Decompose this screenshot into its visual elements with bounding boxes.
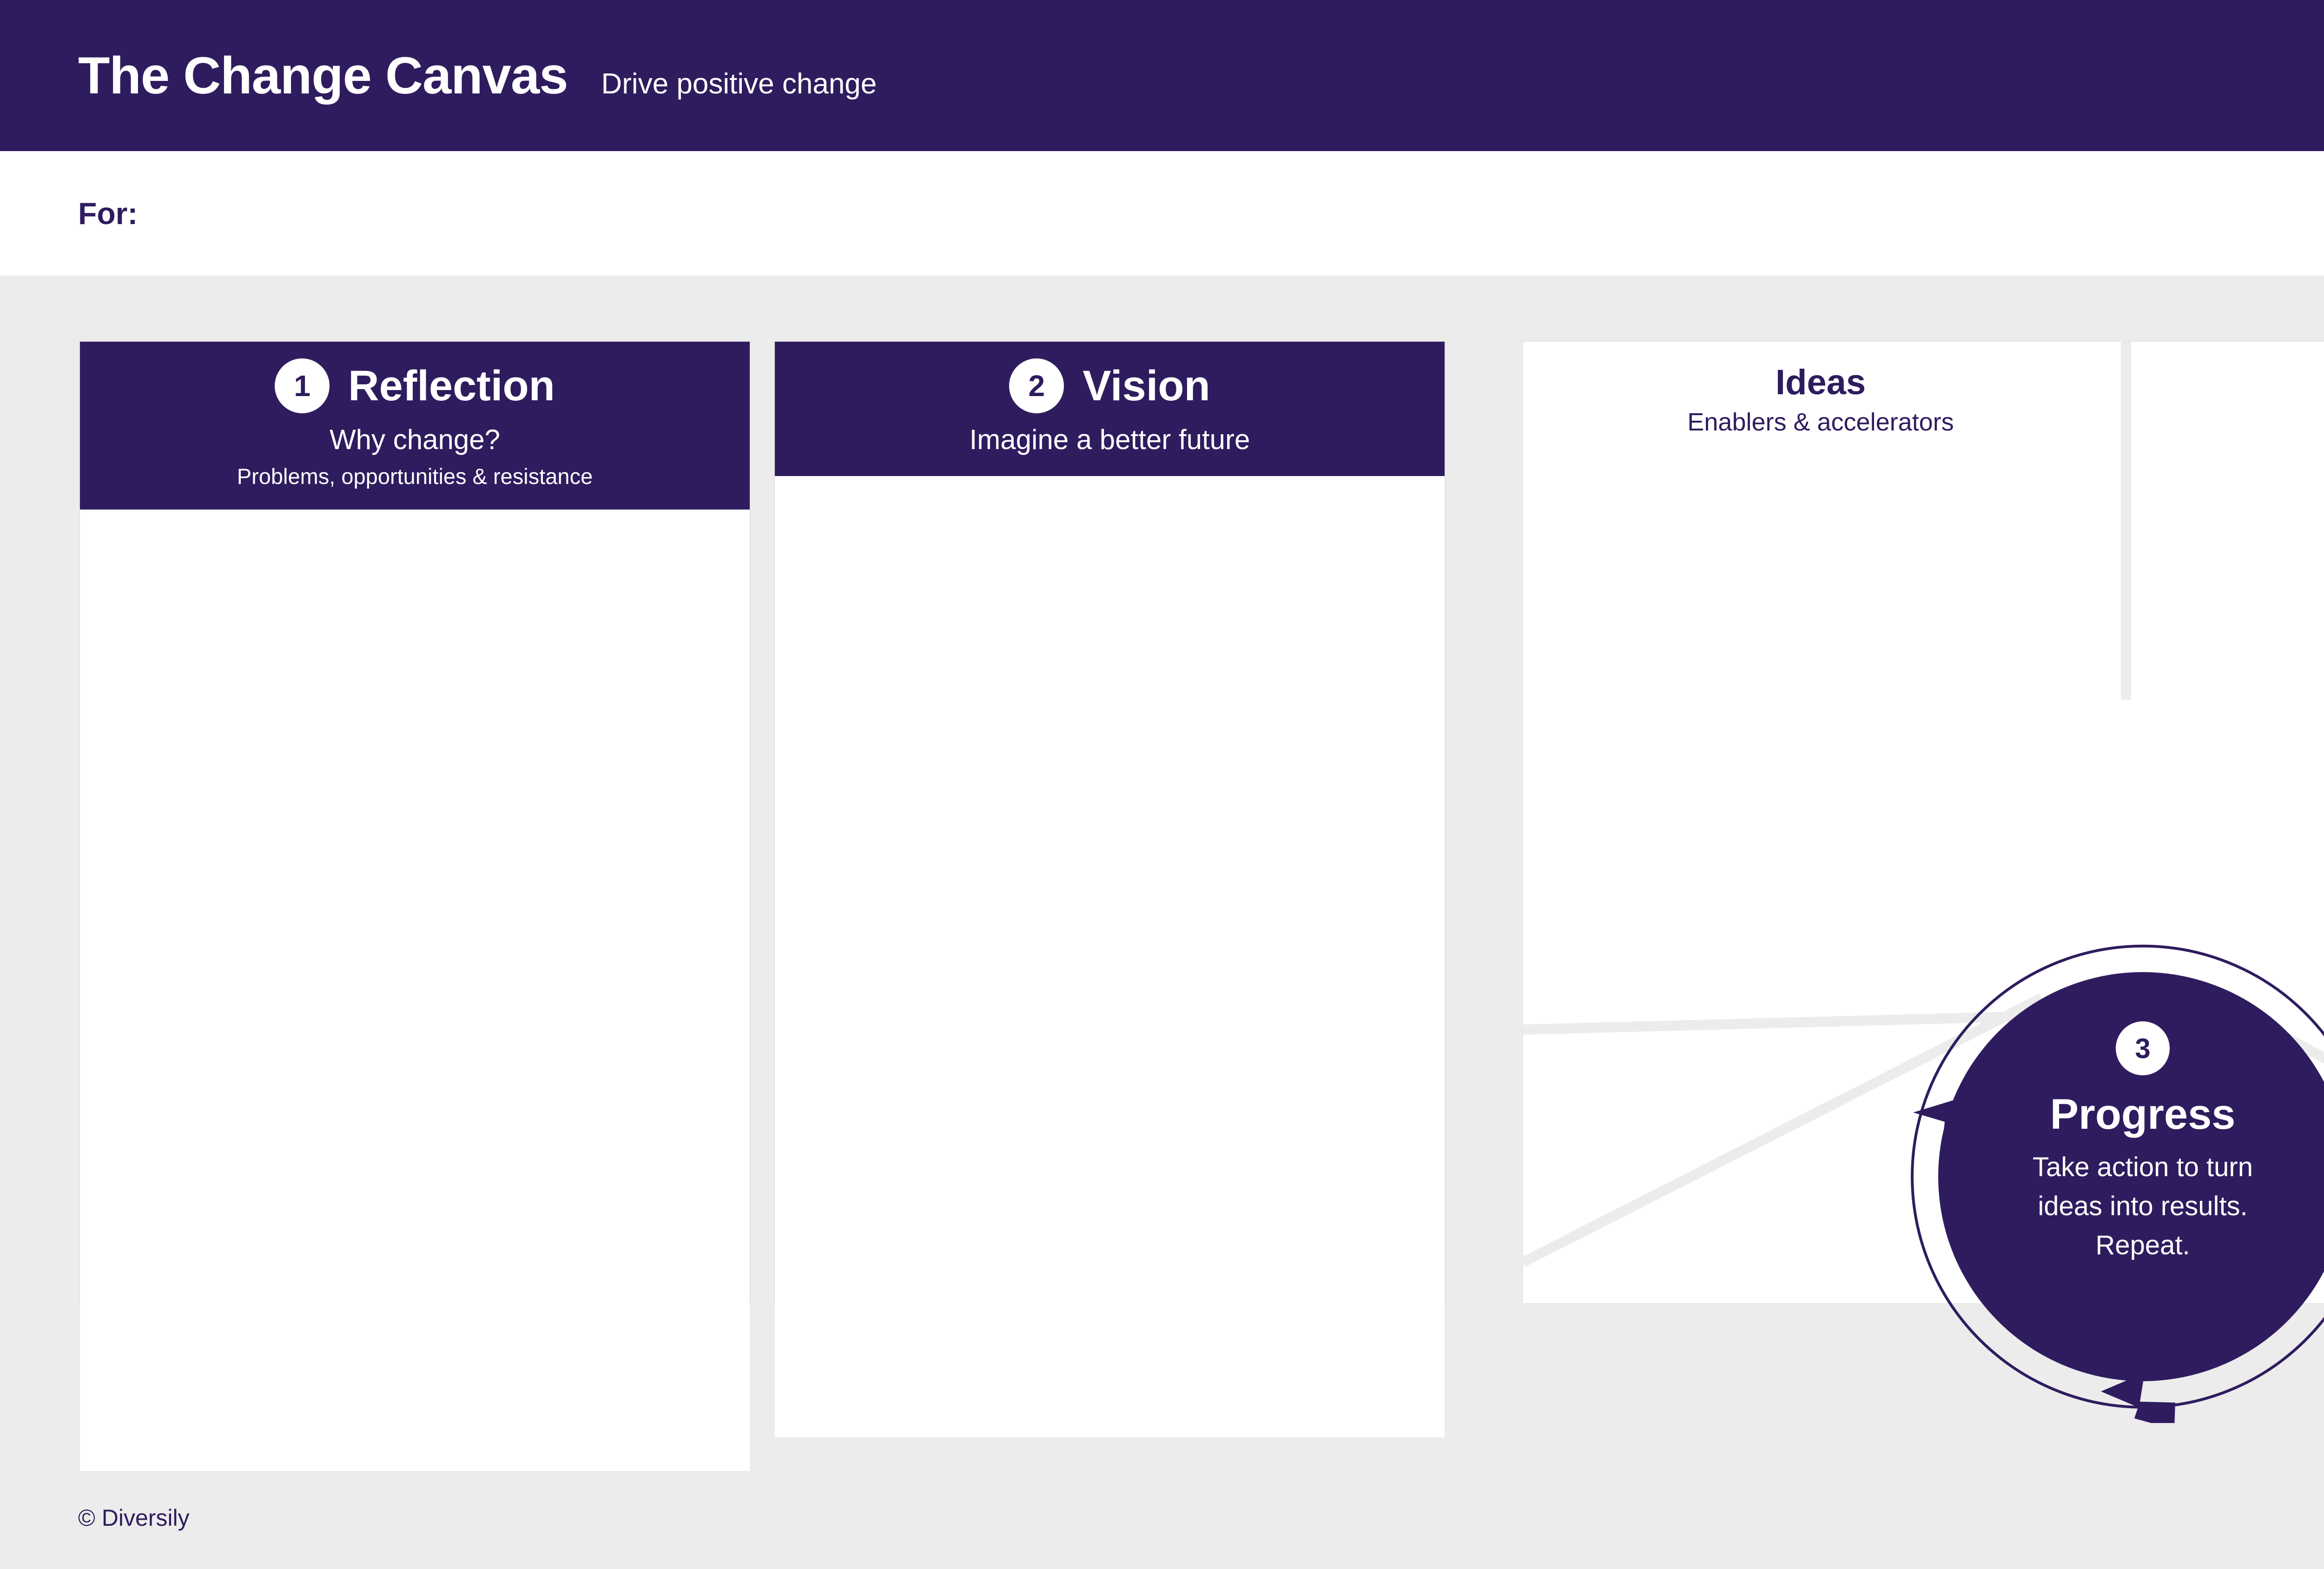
header-title-group: The Change Canvas Drive positive change bbox=[78, 50, 877, 102]
for-label: For: bbox=[78, 198, 138, 229]
card-vision-header: 2 Vision Imagine a better future bbox=[775, 342, 1445, 476]
copyright-footer: © Diversily bbox=[78, 1506, 190, 1529]
quadrant-ideas[interactable]: Ideas Enablers & accelerators bbox=[1588, 365, 2053, 438]
card-vision-title-row: 2 Vision bbox=[793, 358, 1426, 413]
canvas-body: 1 Reflection Why change? Problems, oppor… bbox=[0, 276, 2324, 1569]
quadrant-actions-subtitle: Next best steps bbox=[2183, 407, 2324, 438]
card-reflection-description: Problems, opportunities & resistance bbox=[99, 464, 731, 489]
card-reflection-writing-area[interactable] bbox=[80, 510, 750, 1471]
step-number-badge: 1 bbox=[275, 358, 330, 413]
card-reflection-subtitle: Why change? bbox=[99, 424, 731, 456]
progress-title: Progress bbox=[2050, 1093, 2236, 1136]
step-number-badge: 3 bbox=[2116, 1021, 2170, 1075]
card-reflection-header: 1 Reflection Why change? Problems, oppor… bbox=[80, 342, 750, 510]
step-number-badge: 2 bbox=[1009, 358, 1064, 413]
card-vision-title: Vision bbox=[1083, 364, 1210, 407]
card-vision-writing-area[interactable] bbox=[775, 476, 1445, 1437]
progress-hub[interactable]: 3 Progress Take action to turn ideas int… bbox=[1896, 930, 2324, 1423]
quadrant-actions-title: Actions bbox=[2183, 365, 2324, 400]
page-tagline: Drive positive change bbox=[601, 70, 877, 99]
quadrant-actions[interactable]: Actions Next best steps bbox=[2183, 365, 2324, 438]
card-vision[interactable]: 2 Vision Imagine a better future bbox=[774, 341, 1446, 1304]
quadrant-ideas-subtitle: Enablers & accelerators bbox=[1588, 407, 2053, 438]
card-reflection[interactable]: 1 Reflection Why change? Problems, oppor… bbox=[79, 341, 751, 1304]
for-row: For: bbox=[0, 151, 2324, 276]
quadrant-ideas-title: Ideas bbox=[1588, 365, 2053, 400]
card-vision-subtitle: Imagine a better future bbox=[793, 424, 1426, 456]
progress-description: Take action to turn ideas into results. … bbox=[2003, 1148, 2282, 1265]
page-title: The Change Canvas bbox=[78, 50, 568, 102]
card-reflection-title-row: 1 Reflection bbox=[99, 358, 731, 413]
app-header: The Change Canvas Drive positive change bbox=[0, 0, 2324, 151]
card-reflection-title: Reflection bbox=[348, 364, 555, 407]
